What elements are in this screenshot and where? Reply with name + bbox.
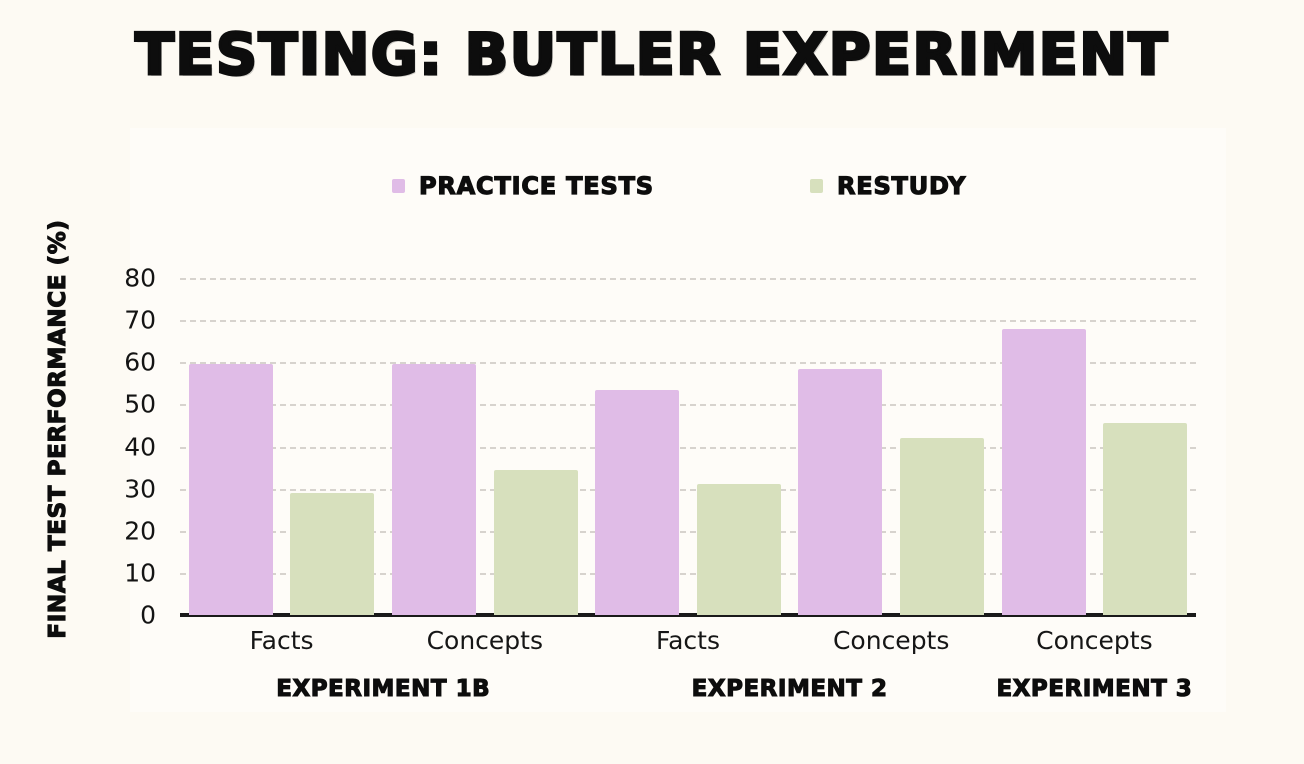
x-axis-label-1: Concepts [385, 626, 585, 655]
plot-area: 80706050403020100 [180, 278, 1196, 615]
bar-restudy-7 [900, 438, 984, 615]
chart-legend: PRACTICE TESTSRESTUDY [130, 168, 1226, 212]
bar-restudy-5 [697, 484, 781, 615]
legend-swatch-icon [810, 179, 823, 193]
legend-label: RESTUDY [837, 172, 966, 200]
group-label-2: EXPERIMENT 3 [914, 676, 1274, 702]
bar-restudy-3 [494, 470, 578, 615]
chart-title: TESTING: BUTLER EXPERIMENT [0, 22, 1304, 88]
bar-practice-tests-0 [189, 364, 273, 615]
legend-item-restudy[interactable]: RESTUDY [810, 172, 966, 200]
bar-practice-tests-8 [1002, 329, 1086, 615]
x-axis-label-0: Facts [182, 626, 382, 655]
bar-practice-tests-4 [595, 390, 679, 615]
legend-item-practice-tests[interactable]: PRACTICE TESTS [392, 172, 654, 200]
y-axis-title: FINAL TEST PERFORMANCE (%) [45, 219, 71, 639]
y-axis-tick-label: 60 [118, 348, 178, 377]
y-axis-tick-label: 50 [118, 390, 178, 419]
y-axis-tick-label: 70 [118, 306, 178, 335]
group-label-0: EXPERIMENT 1B [203, 676, 563, 702]
y-axis-tick-label: 10 [118, 558, 178, 587]
x-axis-group-labels: EXPERIMENT 1BEXPERIMENT 2EXPERIMENT 3 [180, 676, 1226, 716]
y-axis-tick-label: 30 [118, 474, 178, 503]
y-axis-tick-label: 80 [118, 264, 178, 293]
x-axis-label-3: Concepts [791, 626, 991, 655]
x-axis-label-2: Facts [588, 626, 788, 655]
bar-practice-tests-6 [798, 369, 882, 615]
gridline [180, 278, 1196, 280]
x-axis-category-labels: FactsConceptsFactsConceptsConcepts [180, 626, 1196, 668]
bar-restudy-1 [290, 493, 374, 615]
x-axis-label-4: Concepts [994, 626, 1194, 655]
y-axis-tick-label: 40 [118, 432, 178, 461]
bar-practice-tests-2 [392, 364, 476, 615]
y-axis-tick-label: 0 [118, 601, 178, 630]
y-axis-tick-label: 20 [118, 516, 178, 545]
legend-label: PRACTICE TESTS [419, 172, 654, 200]
gridline [180, 320, 1196, 322]
bar-restudy-9 [1103, 423, 1187, 615]
legend-swatch-icon [392, 179, 405, 193]
